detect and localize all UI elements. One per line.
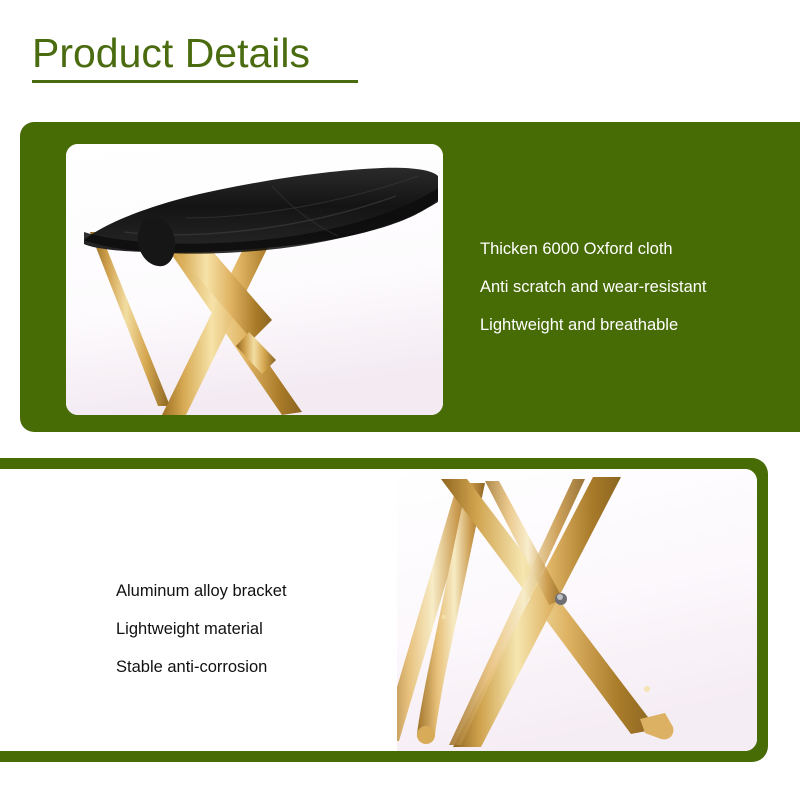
feature-panel-aluminum-bracket-inner: Aluminum alloy bracket Lightweight mater…: [0, 469, 757, 751]
folding-stool-seat-photo: [66, 144, 443, 415]
feature-item: Aluminum alloy bracket: [116, 572, 396, 610]
title-underline-rule: [32, 80, 358, 83]
feature-list-oxford-cloth: Thicken 6000 Oxford cloth Anti scratch a…: [480, 230, 800, 344]
feature-item: Thicken 6000 Oxford cloth: [480, 230, 800, 268]
feature-panel-oxford-cloth: Thicken 6000 Oxford cloth Anti scratch a…: [20, 122, 800, 432]
photo-card-oxford-cloth: [66, 144, 443, 415]
feature-list-aluminum-bracket: Aluminum alloy bracket Lightweight mater…: [116, 572, 396, 686]
photo-card-aluminum-bracket: [397, 469, 757, 751]
page-title: Product Details: [32, 28, 452, 78]
feature-item: Lightweight and breathable: [480, 306, 800, 344]
feature-item: Anti scratch and wear-resistant: [480, 268, 800, 306]
feature-item: Stable anti-corrosion: [116, 648, 396, 686]
feature-panel-aluminum-bracket: Aluminum alloy bracket Lightweight mater…: [0, 458, 768, 762]
aluminum-alloy-bracket-photo: [397, 469, 757, 751]
product-details-page: Product Details: [0, 0, 800, 800]
feature-item: Lightweight material: [116, 610, 396, 648]
page-title-block: Product Details: [32, 28, 452, 78]
